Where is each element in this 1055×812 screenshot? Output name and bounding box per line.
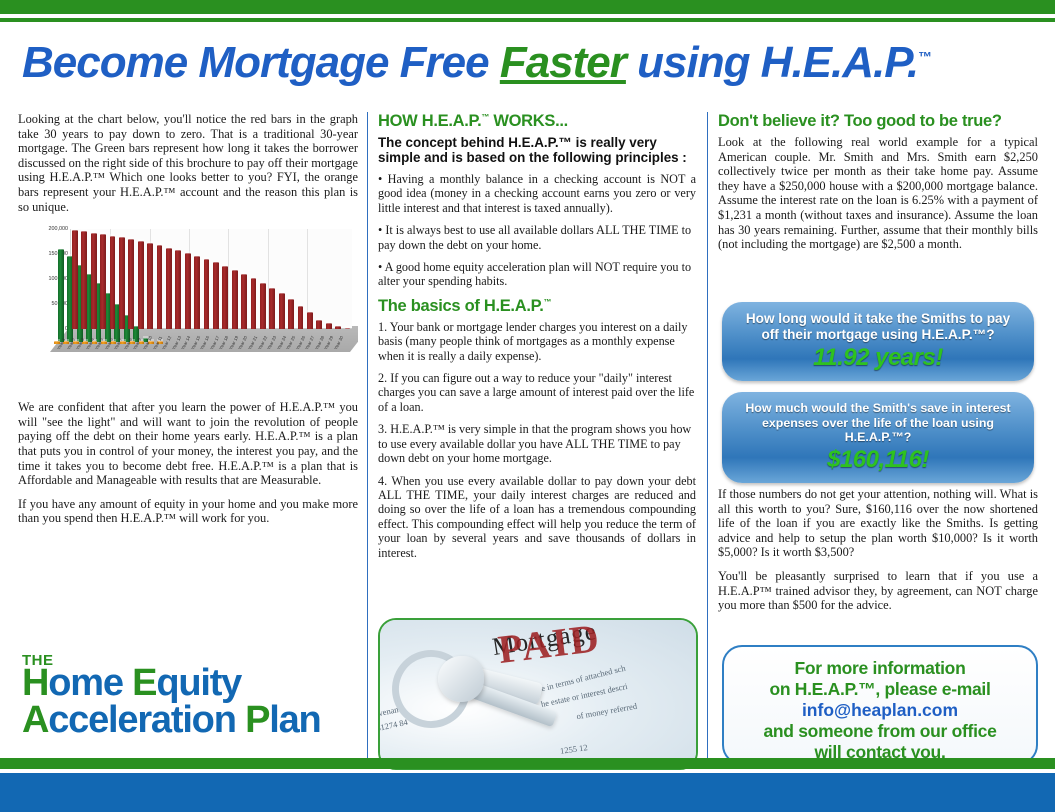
chart-bar-cap [204,257,210,260]
bottom-blue-rule [0,773,1055,812]
heading-how-heap-works: HOW H.E.A.P.™ WORKS... [378,112,696,131]
logo-text-lan: lan [269,699,320,741]
basics-item: 2. If you can figure out a way to reduce… [378,371,696,414]
chart-bar-red [213,262,219,329]
chart-bar-red [307,312,313,329]
left-paragraph-3: If you have any amount of equity in your… [18,497,358,526]
chart-bar-cap [100,232,106,235]
bottom-green-rule [0,758,1055,769]
heading-dont-believe-it: Don't believe it? Too good to be true? [718,112,1038,131]
chart-bar-cap [345,326,351,329]
chart-bar-red [185,253,191,329]
mortgage-paid-photo: ovenants 51274 84 gee in terms of attach… [378,618,698,770]
right-column: Don't believe it? Too good to be true? L… [718,112,1038,261]
chart-bar-cap [185,251,191,254]
callout-box-savings: How much would the Smith's save in inter… [722,392,1034,483]
chart-bar-red [100,234,106,329]
callout-question: How long would it take the Smiths to pay… [736,311,1020,343]
chart-bar-red [175,250,181,329]
callout-answer: 11.92 years! [736,344,1020,371]
chart-bar-red [326,323,332,330]
chart-bar-cap [222,264,228,267]
chart-bar-cap [166,246,172,249]
brochure-page: Become Mortgage Free Faster using H.E.A.… [0,0,1055,812]
chart-bar-red [72,230,78,329]
chart-bar-red [251,278,257,329]
right-paragraph-2: If those numbers do not get your attenti… [718,487,1038,560]
chart-bar-red [157,245,163,329]
chart-bar-cap [298,304,304,307]
logo-line-2: Acceleration Plan [22,702,352,739]
right-column-lower: If those numbers do not get your attenti… [718,487,1038,622]
page-title: Become Mortgage Free Faster using H.E.A.… [22,38,1032,94]
logo-letter-a: A [22,699,48,741]
chart-bar-red [241,274,247,329]
chart-bar-cap [269,286,275,289]
chart-bar-cap [326,321,332,324]
column-divider-1 [367,112,368,760]
chart-bar-red [81,231,87,329]
mortgage-balance-chart: 050,000100,000150,000200,000 Year 30Year… [18,223,358,388]
chart-bar-cap [58,247,64,250]
chart-bar-cap [213,260,219,263]
bullet-item: • It is always best to use all available… [378,223,696,252]
trademark-symbol: ™ [481,113,489,122]
chart-bar-red [316,320,322,329]
chart-y-tick-label: 200,000 [18,226,68,232]
chart-bar-red [91,233,97,329]
heap-logo: THE Home Equity Acceleration Plan [22,652,352,739]
callout-box-years: How long would it take the Smiths to pay… [722,302,1034,381]
chart-bar-cap [175,248,181,251]
left-intro-paragraph: Looking at the chart below, you'll notic… [18,112,358,214]
chart-bar-red [260,283,266,329]
chart-bar-cap [288,297,294,300]
contact-email[interactable]: info@heaplan.com [724,700,1036,721]
logo-text-quity: quity [156,662,241,704]
chart-bar-cap [72,228,78,231]
callout-answer: $160,116! [736,446,1020,473]
logo-letter-p: P [245,699,269,741]
chart-bar-cap [81,229,87,232]
top-green-rule [0,0,1055,14]
chart-bar-cap [128,237,134,240]
contact-box: For more information on H.E.A.P.™, pleas… [722,645,1038,765]
top-green-thin-rule [0,18,1055,22]
right-paragraph-1: Look at the following real world example… [718,135,1038,252]
chart-bar-cap [316,318,322,321]
headline-part-2: using H.E.A.P. [626,38,918,87]
callout-question: How much would the Smith's save in inter… [736,401,1020,445]
bullet-item: • A good home equity acceleration plan w… [378,260,696,289]
chart-bar-cap [157,243,163,246]
contact-line-1: For more information [724,658,1036,679]
chart-bar-red [298,306,304,330]
chart-bar-cap [307,310,313,313]
chart-bar-cap [335,324,341,327]
column-divider-2 [707,112,708,760]
chart-bar-red [232,270,238,330]
chart-bar-cap [91,231,97,234]
logo-letter-e: E [132,662,156,704]
logo-text-cceleration: cceleration [48,699,245,741]
logo-text-ome: ome [48,662,132,704]
chart-bar-green [58,249,64,343]
chart-bar-cap [232,268,238,271]
chart-bar-red [147,243,153,329]
chart-bar-cap [138,239,144,242]
heading-how-heap-works-text: HOW H.E.A.P. [378,112,481,130]
basics-item: 4. When you use every available dollar t… [378,474,696,560]
basics-item: 1. Your bank or mortgage lender charges … [378,320,696,363]
chart-bar-red [138,241,144,329]
middle-column: HOW H.E.A.P.™ WORKS... The concept behin… [378,112,696,568]
heading-basics-text: The basics of H.E.A.P. [378,297,543,315]
headline-part-1: Become Mortgage Free [22,38,500,87]
chart-bar-red [119,237,125,329]
right-paragraph-3: You'll be pleasantly surprised to learn … [718,569,1038,613]
trademark-symbol: ™ [543,297,551,306]
chart-bar-cap [241,272,247,275]
chart-bar-red [335,326,341,330]
subheading-concept: The concept behind H.E.A.P.™ is really v… [378,135,696,165]
chart-bar-red [222,266,228,329]
heading-basics-of-heap: The basics of H.E.A.P.™ [378,297,696,316]
chart-bar-red [204,259,210,329]
headline-emphasis: Faster [500,38,626,87]
chart-bar-red [269,288,275,329]
chart-bar-cap [147,241,153,244]
chart-bar-cap [251,276,257,279]
basics-item: 3. H.E.A.P.™ is very simple in that the … [378,422,696,465]
chart-bar-cap [119,235,125,238]
chart-bar-red [128,239,134,329]
bullet-item: • Having a monthly balance in a checking… [378,172,696,215]
logo-letter-h: H [22,662,48,704]
chart-bar-cap [279,291,285,294]
chart-bar-red [288,299,294,329]
left-paragraph-2: We are confident that after you learn th… [18,400,358,488]
chart-bar-cap [194,254,200,257]
key-head [438,656,484,702]
logo-line-1: Home Equity [22,665,352,702]
heading-how-heap-works-suffix: WORKS... [489,112,568,130]
contact-line-2: on H.E.A.P.™, please e-mail [724,679,1036,700]
chart-bar-red [110,236,116,329]
contact-line-3: and someone from our office [724,721,1036,742]
left-column: Looking at the chart below, you'll notic… [18,112,358,535]
chart-bar-cap [110,234,116,237]
chart-bar-red [194,256,200,329]
chart-bar-red [166,248,172,330]
trademark-symbol: ™ [918,48,931,64]
chart-bar-red [345,328,351,329]
chart-bar-red [279,293,285,329]
chart-bar-cap [260,281,266,284]
